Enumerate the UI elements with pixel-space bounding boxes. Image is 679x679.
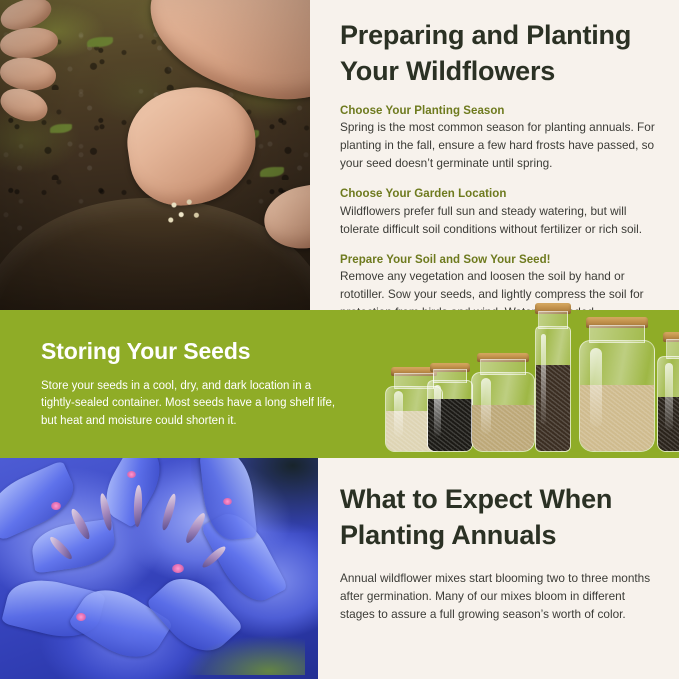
jar-body xyxy=(579,340,655,452)
section-two-copy: Storing Your Seeds Store your seeds in a… xyxy=(41,338,341,431)
section-three-title: What to Expect When Planting Annuals xyxy=(340,482,660,554)
glass-sheen xyxy=(394,391,403,437)
blue-cornflower-closeup-photo xyxy=(0,458,318,679)
jar-body xyxy=(535,326,571,452)
section-what-to-expect: What to Expect When Planting Annuals Ann… xyxy=(0,458,679,679)
jar-body xyxy=(471,372,535,452)
subheading-prepare-soil: Prepare Your Soil and Sow Your Seed! xyxy=(340,252,660,269)
pink-highlight xyxy=(76,613,86,621)
body-planting-season: Spring is the most common season for pla… xyxy=(340,119,660,173)
jar-body xyxy=(657,356,679,452)
section-two-body: Store your seeds in a cool, dry, and dar… xyxy=(41,378,341,431)
jar-pumpkin-seed xyxy=(579,315,655,452)
infographic-page: Preparing and Planting Your Wildflowers … xyxy=(0,0,679,679)
pink-highlight xyxy=(172,564,184,573)
jar-black-seeds xyxy=(427,361,473,452)
section-one-title: Preparing and Planting Your Wildflowers xyxy=(340,0,660,90)
glass-sheen xyxy=(541,334,546,423)
jar-sunflower xyxy=(657,330,679,452)
glass-jars-of-seeds-photo xyxy=(385,316,665,452)
pink-highlight xyxy=(223,498,232,505)
block-planting-season: Choose Your Planting Season Spring is th… xyxy=(340,103,660,173)
photo-vignette xyxy=(0,0,310,310)
green-background-leaf xyxy=(184,635,305,675)
subheading-garden-location: Choose Your Garden Location xyxy=(340,186,660,203)
block-garden-location: Choose Your Garden Location Wildflowers … xyxy=(340,186,660,239)
section-one-copy: Preparing and Planting Your Wildflowers … xyxy=(340,0,660,322)
glass-sheen xyxy=(481,378,491,434)
section-two-title: Storing Your Seeds xyxy=(41,338,341,366)
section-preparing-and-planting: Preparing and Planting Your Wildflowers … xyxy=(0,0,679,310)
hand-sowing-seeds-in-soil-photo xyxy=(0,0,310,310)
subheading-planting-season: Choose Your Planting Season xyxy=(340,103,660,120)
glass-sheen xyxy=(665,363,673,431)
jar-body xyxy=(427,380,473,452)
glass-sheen xyxy=(590,348,602,427)
jar-fine-tan-seed xyxy=(471,351,535,452)
glass-sheen xyxy=(434,385,441,435)
section-three-body: Annual wildflower mixes start blooming t… xyxy=(340,570,660,624)
section-three-copy: What to Expect When Planting Annuals Ann… xyxy=(340,482,660,624)
jar-tall-dark xyxy=(535,301,571,452)
body-garden-location: Wildflowers prefer full sun and steady w… xyxy=(340,203,660,239)
